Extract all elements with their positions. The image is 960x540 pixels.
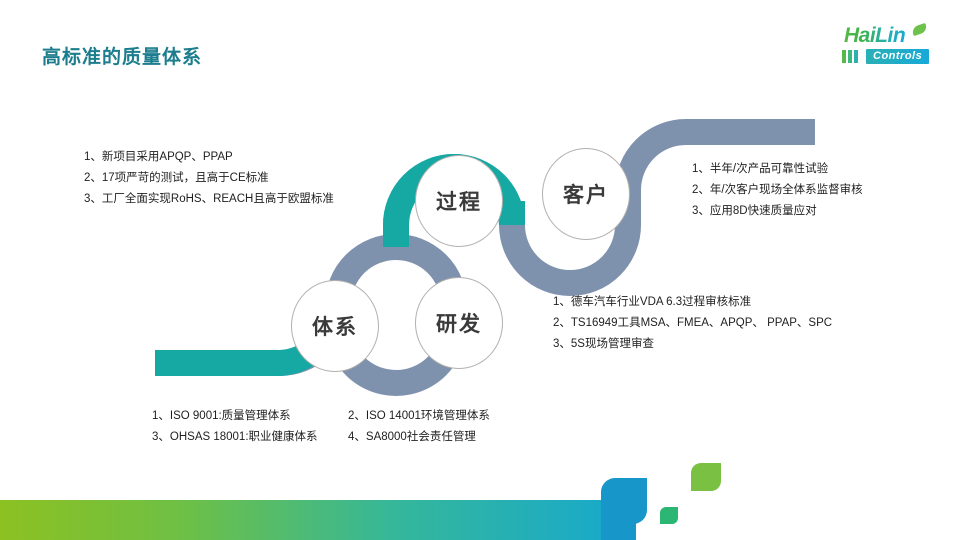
logo-subtitle: Controls — [866, 49, 929, 64]
text-block-middle: 1、德车汽车行业VDA 6.3过程审核标准 2、TS16949工具MSA、FME… — [553, 292, 832, 355]
text-block-bottom: 1、ISO 9001:质量管理体系 2、ISO 14001环境管理体系 3、OH… — [152, 406, 490, 448]
node-process-label: 过程 — [436, 186, 482, 216]
footer-green-leaf-icon — [691, 463, 721, 491]
text-block-right: 1、半年/次产品可靠性试验 2、年/次客户现场全体系监督审核 3、应用8D快速质… — [692, 159, 863, 222]
text-line: 1、德车汽车行业VDA 6.3过程审核标准 — [553, 292, 832, 313]
text-row: 3、OHSAS 18001:职业健康体系 4、SA8000社会责任管理 — [152, 427, 490, 448]
node-customer[interactable]: 客户 — [542, 148, 630, 240]
node-rnd-label: 研发 — [436, 308, 482, 338]
node-customer-label: 客户 — [563, 179, 609, 209]
text-line: 2、ISO 14001环境管理体系 — [348, 406, 490, 427]
text-line: 4、SA8000社会责任管理 — [348, 427, 476, 448]
footer-gradient-bar — [0, 500, 636, 540]
text-line: 3、工厂全面实现RoHS、REACH且高于欧盟标准 — [84, 189, 334, 210]
node-system-label: 体系 — [312, 311, 358, 341]
slide-canvas: 高标准的质量体系 HaiLin Controls 过程 客户 体系 — [0, 0, 960, 540]
text-line: 3、应用8D快速质量应对 — [692, 201, 863, 222]
text-line: 2、年/次客户现场全体系监督审核 — [692, 180, 863, 201]
process-ribbon — [0, 0, 960, 540]
bars-icon — [842, 50, 864, 63]
text-line: 1、ISO 9001:质量管理体系 — [152, 406, 348, 427]
text-row: 1、ISO 9001:质量管理体系 2、ISO 14001环境管理体系 — [152, 406, 490, 427]
leaf-icon — [911, 23, 928, 36]
footer-teal-leaf-icon — [660, 507, 678, 524]
node-process[interactable]: 过程 — [415, 155, 503, 247]
text-line: 2、TS16949工具MSA、FMEA、APQP、 PPAP、SPC — [553, 313, 832, 334]
logo-wordmark: HaiLin — [844, 24, 905, 48]
text-line: 3、OHSAS 18001:职业健康体系 — [152, 427, 348, 448]
text-block-topleft: 1、新项目采用APQP、PPAP 2、17项严苛的测试，且高于CE标准 3、工厂… — [84, 147, 334, 210]
text-line: 2、17项严苛的测试，且高于CE标准 — [84, 168, 334, 189]
node-rnd[interactable]: 研发 — [415, 277, 503, 369]
footer-blue-leaf-icon — [601, 478, 647, 524]
text-line: 1、新项目采用APQP、PPAP — [84, 147, 334, 168]
brand-logo: HaiLin Controls — [838, 24, 954, 68]
node-system[interactable]: 体系 — [291, 280, 379, 372]
text-line: 3、5S现场管理审查 — [553, 334, 832, 355]
text-line: 1、半年/次产品可靠性试验 — [692, 159, 863, 180]
page-title: 高标准的质量体系 — [42, 42, 202, 69]
